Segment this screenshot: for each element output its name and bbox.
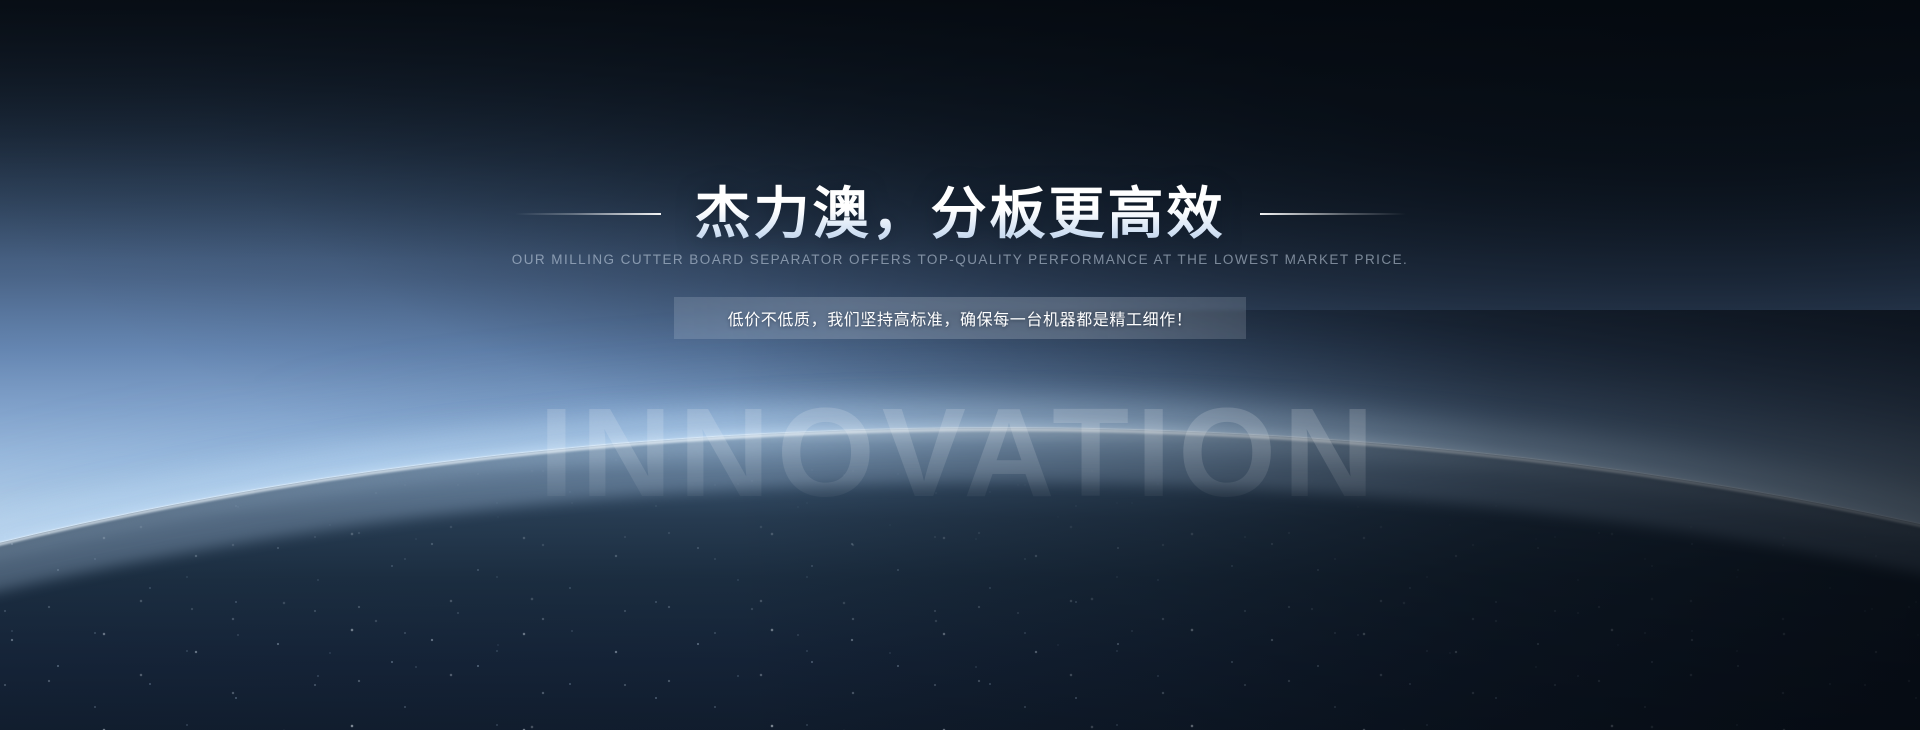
tagline-bar: 低价不低质，我们坚持高标准，确保每一台机器都是精工细作！ (674, 297, 1246, 339)
page-title: 杰力澳，分板更高效 (695, 183, 1226, 246)
watermark-text: INNOVATION (0, 390, 1920, 516)
banner-subtitle: OUR MILLING CUTTER BOARD SEPARATOR OFFER… (0, 252, 1920, 267)
headline-rule-left-icon (515, 213, 661, 215)
hero-banner: INNOVATION 杰力澳，分板更高效 OUR MILLING CUTTER … (0, 0, 1920, 730)
banner-content: INNOVATION 杰力澳，分板更高效 OUR MILLING CUTTER … (0, 0, 1920, 730)
tagline-text: 低价不低质，我们坚持高标准，确保每一台机器都是精工细作！ (728, 306, 1193, 330)
headline-rule-right-icon (1260, 213, 1406, 215)
